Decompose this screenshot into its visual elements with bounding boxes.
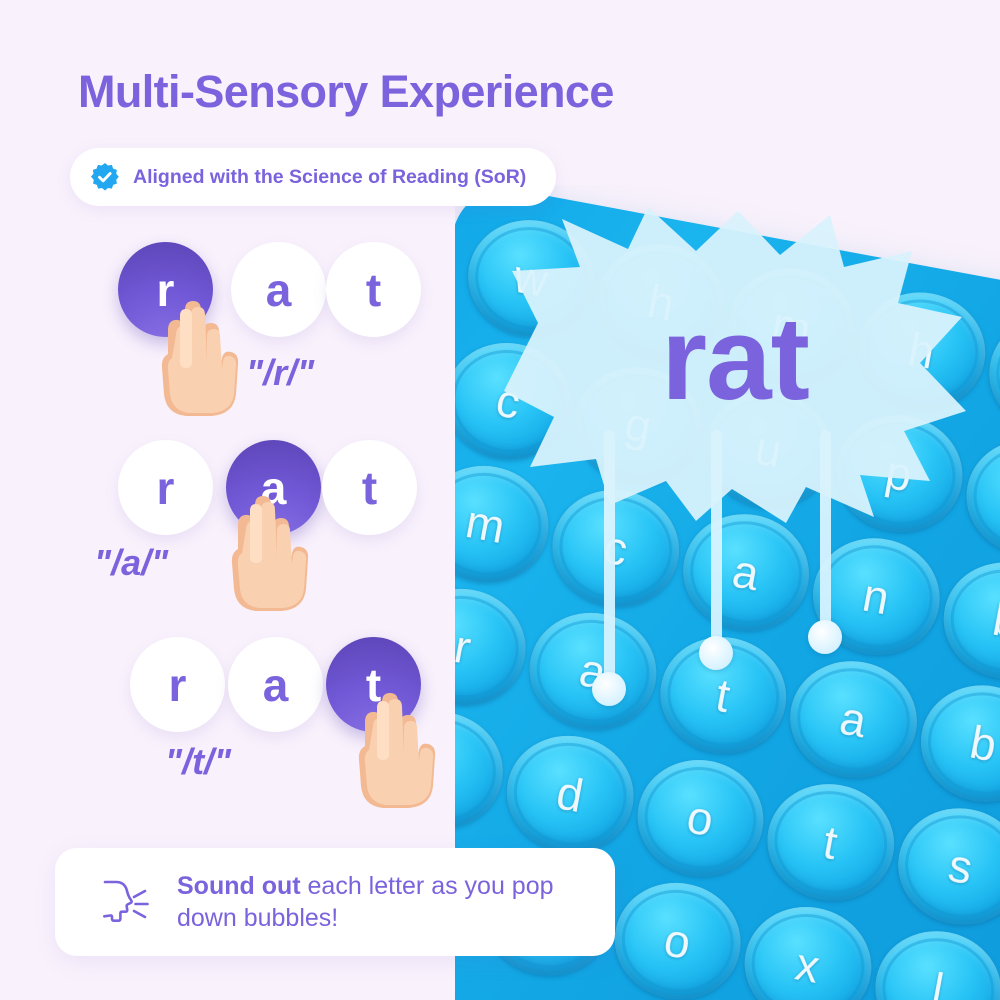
phoneme-label-2: "/a/" <box>94 542 168 584</box>
pop-it-bubble-letter: a <box>728 543 763 601</box>
letter-sequence-row-1: r a t "/r/" <box>118 242 498 338</box>
pop-it-bubble[interactable]: b <box>934 552 1000 689</box>
pop-it-bubble-letter: a <box>575 642 610 700</box>
pop-it-bubble[interactable]: a <box>673 504 818 641</box>
pop-it-bubble-letter: b <box>966 715 1000 773</box>
letter-circle-a[interactable]: a <box>228 637 323 732</box>
pop-it-bubble-letter: o <box>683 789 718 847</box>
letter-circle-r-active[interactable]: r <box>118 242 213 337</box>
letter-circle-t-active[interactable]: t <box>326 637 421 732</box>
phoneme-label-3: "/t/" <box>165 741 231 783</box>
pop-it-bubble-letter: g <box>621 396 656 454</box>
pop-it-bubble[interactable]: m <box>719 258 864 395</box>
pop-it-bubble[interactable]: a <box>781 651 926 788</box>
letter-circle-r[interactable]: r <box>118 440 213 535</box>
sor-badge-label: Aligned with the Science of Reading (SoR… <box>133 166 526 189</box>
letter-sequence-row-2: r a t "/a/" <box>118 440 498 536</box>
pop-it-bubble-letter: x <box>791 937 824 994</box>
letter-circles-1: r a t <box>118 242 498 338</box>
pop-it-bubble[interactable]: o <box>605 873 750 1000</box>
page-title: Multi-Sensory Experience <box>78 66 614 118</box>
pop-it-bubble-letter: w <box>510 249 553 308</box>
letter-circle-a-active[interactable]: a <box>226 440 321 535</box>
pop-it-bubble-letter: b <box>989 592 1000 650</box>
pop-it-bubble[interactable]: o <box>979 306 1000 443</box>
pop-it-bubble-letter: o <box>660 912 695 970</box>
pop-it-bubble-letter: p <box>881 445 916 503</box>
letter-circles-2: r a t <box>118 440 498 536</box>
letter-circle-a[interactable]: a <box>231 242 326 337</box>
sound-out-bold: Sound out <box>177 872 301 900</box>
pop-it-bubble[interactable]: x <box>735 897 880 1000</box>
verified-check-icon <box>90 162 120 192</box>
letter-sequence-row-3: r a t "/t/" <box>130 637 510 733</box>
letter-circle-t[interactable]: t <box>326 242 421 337</box>
pop-it-bubble-letter: u <box>751 421 786 479</box>
pop-it-bubble[interactable]: l <box>865 921 1000 1000</box>
pop-it-bubble[interactable]: t <box>651 627 796 764</box>
pop-it-bubble-letter: s <box>944 838 977 895</box>
pop-it-bubble-letter: n <box>858 568 893 626</box>
pop-it-bubble-letter: a <box>836 691 871 749</box>
pop-it-bubble[interactable]: b <box>911 675 1000 812</box>
pop-it-bubble[interactable]: o <box>956 429 1000 566</box>
sor-badge: Aligned with the Science of Reading (SoR… <box>70 148 556 206</box>
pop-it-bubble[interactable]: h <box>589 234 734 371</box>
pop-it-bubble-letter: h <box>904 322 939 380</box>
pop-it-bubble-letter: t <box>819 815 842 871</box>
pop-it-bubble-letter: t <box>712 668 735 724</box>
letter-circle-t[interactable]: t <box>322 440 417 535</box>
sound-out-text: Sound out each letter as you pop down bu… <box>177 870 589 934</box>
pop-it-bubble[interactable]: s <box>888 798 1000 935</box>
pop-it-bubble[interactable]: c <box>543 480 688 617</box>
pop-it-bubble-letter: h <box>644 274 679 332</box>
pop-it-bubble-letter: c <box>599 520 632 577</box>
pop-it-bubble[interactable]: d <box>498 726 643 863</box>
pop-it-bubble-letter: l <box>928 962 948 1000</box>
pop-it-bubble[interactable]: p <box>826 405 971 542</box>
letter-circle-r[interactable]: r <box>130 637 225 732</box>
pop-it-bubble-letter: h <box>455 741 458 799</box>
pop-it-bubble[interactable]: n <box>804 528 949 665</box>
pop-it-bubble-letter: c <box>492 373 525 430</box>
phoneme-label-1: "/r/" <box>246 352 314 394</box>
pop-it-bubble[interactable]: h <box>849 282 994 419</box>
pop-it-bubble[interactable]: o <box>628 750 773 887</box>
pop-it-bubble-letter: m <box>768 296 816 356</box>
pop-it-bubble[interactable]: t <box>758 774 903 911</box>
pop-it-bubble[interactable]: u <box>696 381 841 518</box>
pop-it-bubble[interactable]: g <box>566 357 711 494</box>
speaking-head-icon <box>97 873 155 931</box>
pop-it-bubble-letter: d <box>553 765 588 823</box>
pop-it-bubble[interactable]: a <box>520 603 665 740</box>
sound-out-card: Sound out each letter as you pop down bu… <box>55 848 615 956</box>
letter-circles-3: r a t <box>130 637 510 733</box>
